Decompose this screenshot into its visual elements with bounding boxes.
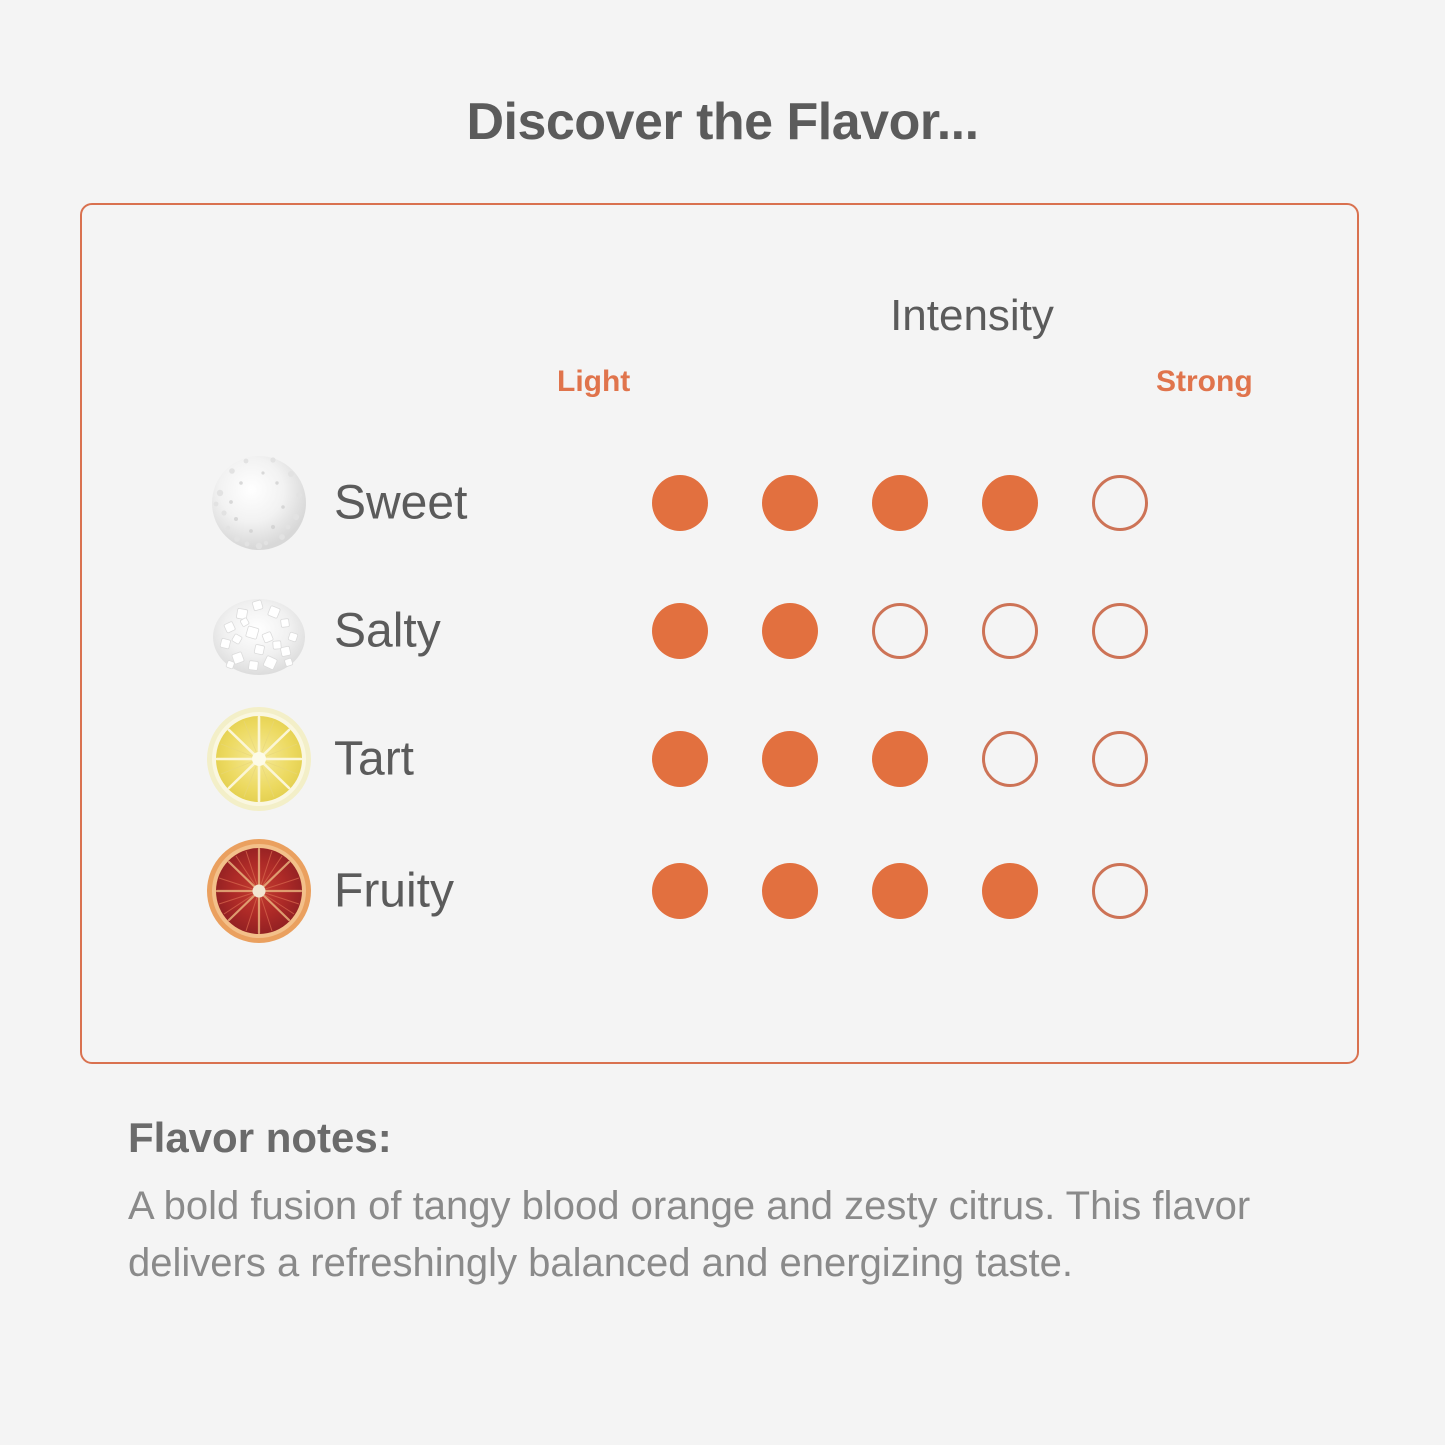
- intensity-dot: [1092, 475, 1148, 531]
- sugar-mound-icon: [200, 444, 318, 562]
- flavor-row-sweet: Sweet: [82, 437, 1357, 569]
- intensity-dot: [982, 603, 1038, 659]
- intensity-dot: [982, 731, 1038, 787]
- intensity-dot: [872, 603, 928, 659]
- flavor-profile-infographic: Discover the Flavor... Intensity Light S…: [0, 0, 1445, 1445]
- intensity-dot: [652, 731, 708, 787]
- lemon-slice-icon: [200, 700, 318, 818]
- intensity-dots-tart: [652, 731, 1148, 787]
- flavor-notes-body: A bold fusion of tangy blood orange and …: [128, 1178, 1358, 1292]
- flavor-label-salty: Salty: [334, 604, 441, 659]
- intensity-dot: [872, 475, 928, 531]
- flavor-row-tart: Tart: [82, 693, 1357, 825]
- intensity-dot: [1092, 603, 1148, 659]
- intensity-dots-salty: [652, 603, 1148, 659]
- intensity-dot: [762, 863, 818, 919]
- intensity-dots-sweet: [652, 475, 1148, 531]
- intensity-dots-fruity: [652, 863, 1148, 919]
- intensity-dot: [652, 603, 708, 659]
- intensity-dot: [982, 863, 1038, 919]
- flavor-label-tart: Tart: [334, 732, 414, 787]
- flavor-intensity-card: Intensity Light Strong: [80, 203, 1359, 1064]
- intensity-dot: [652, 863, 708, 919]
- blood-orange-slice-icon: [200, 832, 318, 950]
- scale-high-label: Strong: [1156, 365, 1253, 399]
- intensity-dot: [762, 475, 818, 531]
- page-title: Discover the Flavor...: [0, 92, 1445, 152]
- intensity-dot: [1092, 863, 1148, 919]
- flavor-notes-heading: Flavor notes:: [128, 1114, 392, 1162]
- intensity-dot: [1092, 731, 1148, 787]
- intensity-dot: [762, 603, 818, 659]
- flavor-label-fruity: Fruity: [334, 864, 454, 919]
- flavor-row-salty: Salty: [82, 565, 1357, 697]
- intensity-dot: [982, 475, 1038, 531]
- intensity-dot: [762, 731, 818, 787]
- intensity-dot: [872, 863, 928, 919]
- salt-crystals-icon: [200, 572, 318, 690]
- intensity-dot: [652, 475, 708, 531]
- flavor-row-fruity: Fruity: [82, 825, 1357, 957]
- scale-low-label: Light: [557, 365, 630, 399]
- intensity-heading: Intensity: [722, 291, 1222, 341]
- intensity-dot: [872, 731, 928, 787]
- flavor-label-sweet: Sweet: [334, 476, 467, 531]
